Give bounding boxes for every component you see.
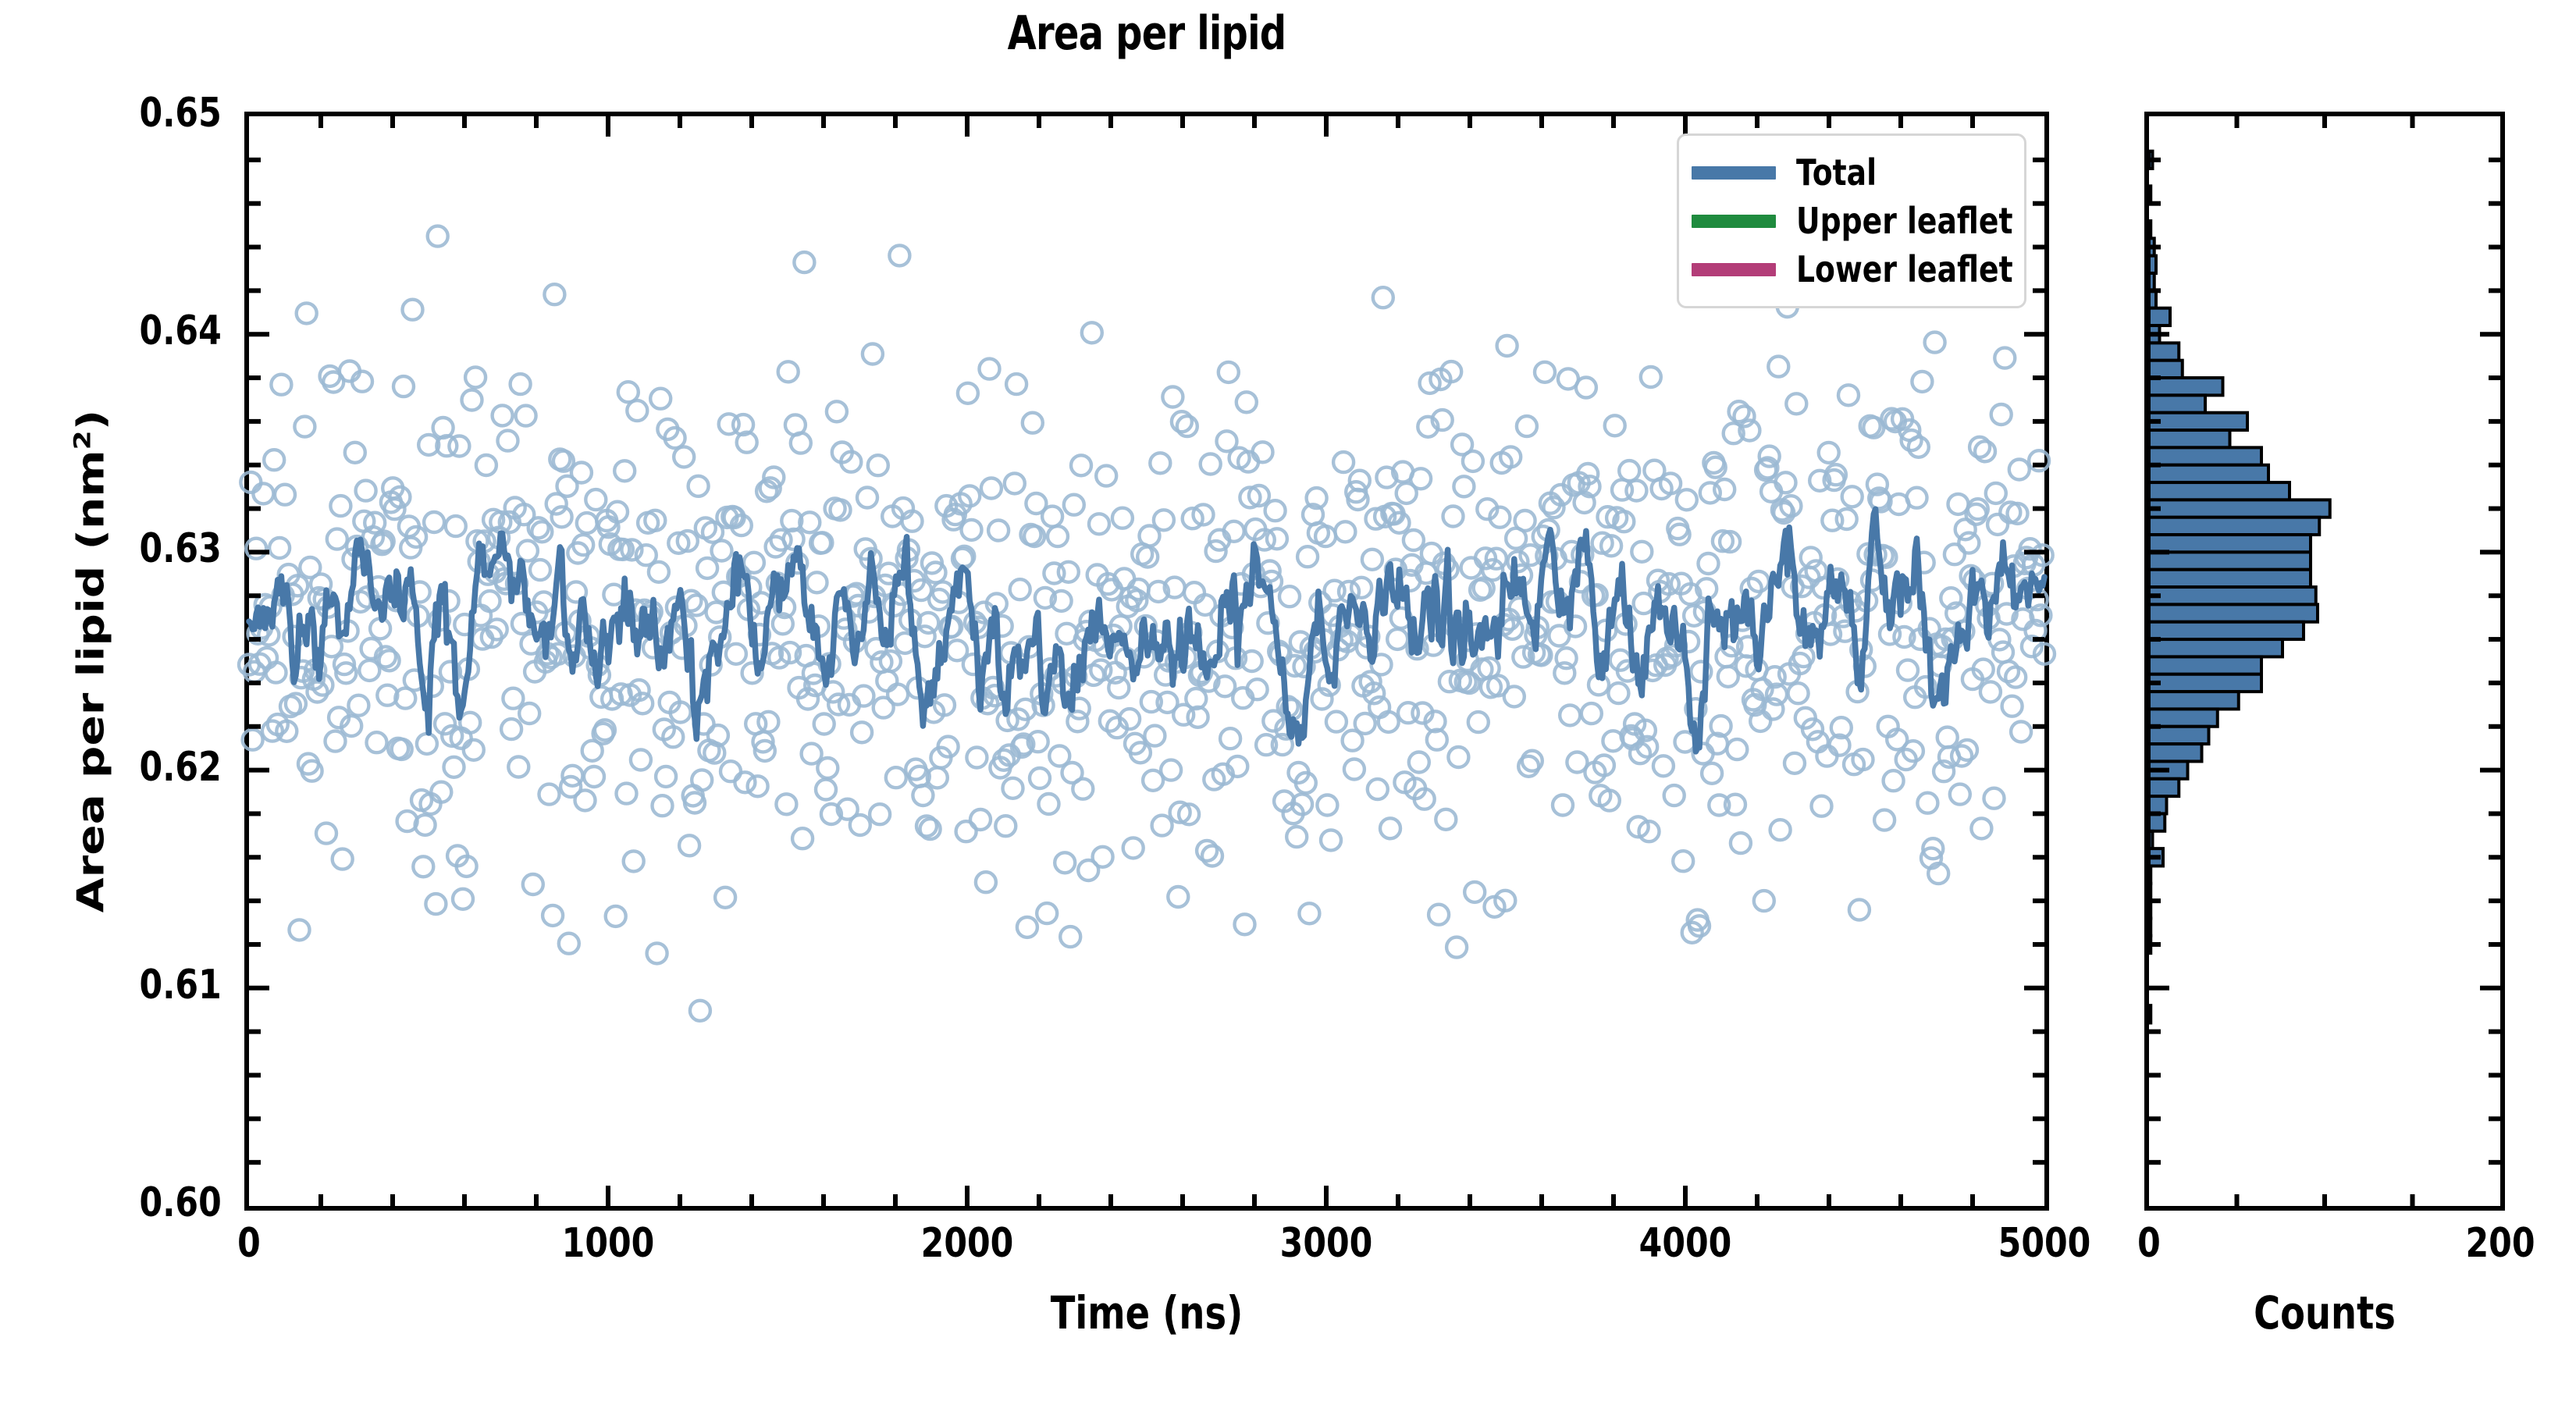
legend-label-total: Total <box>1796 151 1877 194</box>
x-axis-title: Time (ns) <box>425 1286 1869 1339</box>
histogram-x-axis-title: Counts <box>2180 1286 2469 1339</box>
legend-entry-lower-leaflet[interactable]: Lower leaflet <box>1692 245 2012 293</box>
histogram-x-tick-label: 200 <box>2398 1220 2576 1267</box>
y-tick-label: 0.61 <box>139 962 221 1008</box>
legend-label-upper-leaflet: Upper leaflet <box>1796 200 2012 242</box>
x-tick-label: 1000 <box>506 1220 710 1267</box>
x-tick-label: 0 <box>147 1220 351 1267</box>
y-axis-title-exponent: 2 <box>69 430 96 450</box>
legend-swatch-upper-leaflet <box>1692 215 1776 228</box>
y-tick-label: 0.65 <box>139 90 221 137</box>
axis-ticks-layer <box>0 0 2576 1405</box>
y-tick-label: 0.60 <box>139 1179 221 1226</box>
legend-swatch-lower-leaflet <box>1692 263 1776 276</box>
y-axis-title: Area per lipid (nm2) <box>69 112 112 1211</box>
legend-entry-upper-leaflet[interactable]: Upper leaflet <box>1692 197 2012 245</box>
figure-root: Area per lipid 0.600.610.620.630.640.65 … <box>0 0 2576 1405</box>
x-tick-label: 3000 <box>1224 1220 1429 1267</box>
histogram-x-tick-label: 0 <box>2047 1220 2251 1267</box>
x-tick-label: 2000 <box>865 1220 1069 1267</box>
legend: Total Upper leaflet Lower leaflet <box>1677 133 2026 308</box>
legend-swatch-total <box>1692 166 1776 180</box>
y-tick-label: 0.63 <box>139 525 221 572</box>
y-axis-title-suffix: ) <box>69 410 112 431</box>
legend-label-lower-leaflet: Lower leaflet <box>1796 248 2013 290</box>
y-axis-title-prefix: Area per lipid (nm <box>69 450 112 912</box>
x-tick-label: 4000 <box>1583 1220 1788 1267</box>
legend-entry-total[interactable]: Total <box>1692 148 2012 197</box>
y-tick-label: 0.62 <box>139 744 221 791</box>
y-tick-label: 0.64 <box>139 308 221 354</box>
